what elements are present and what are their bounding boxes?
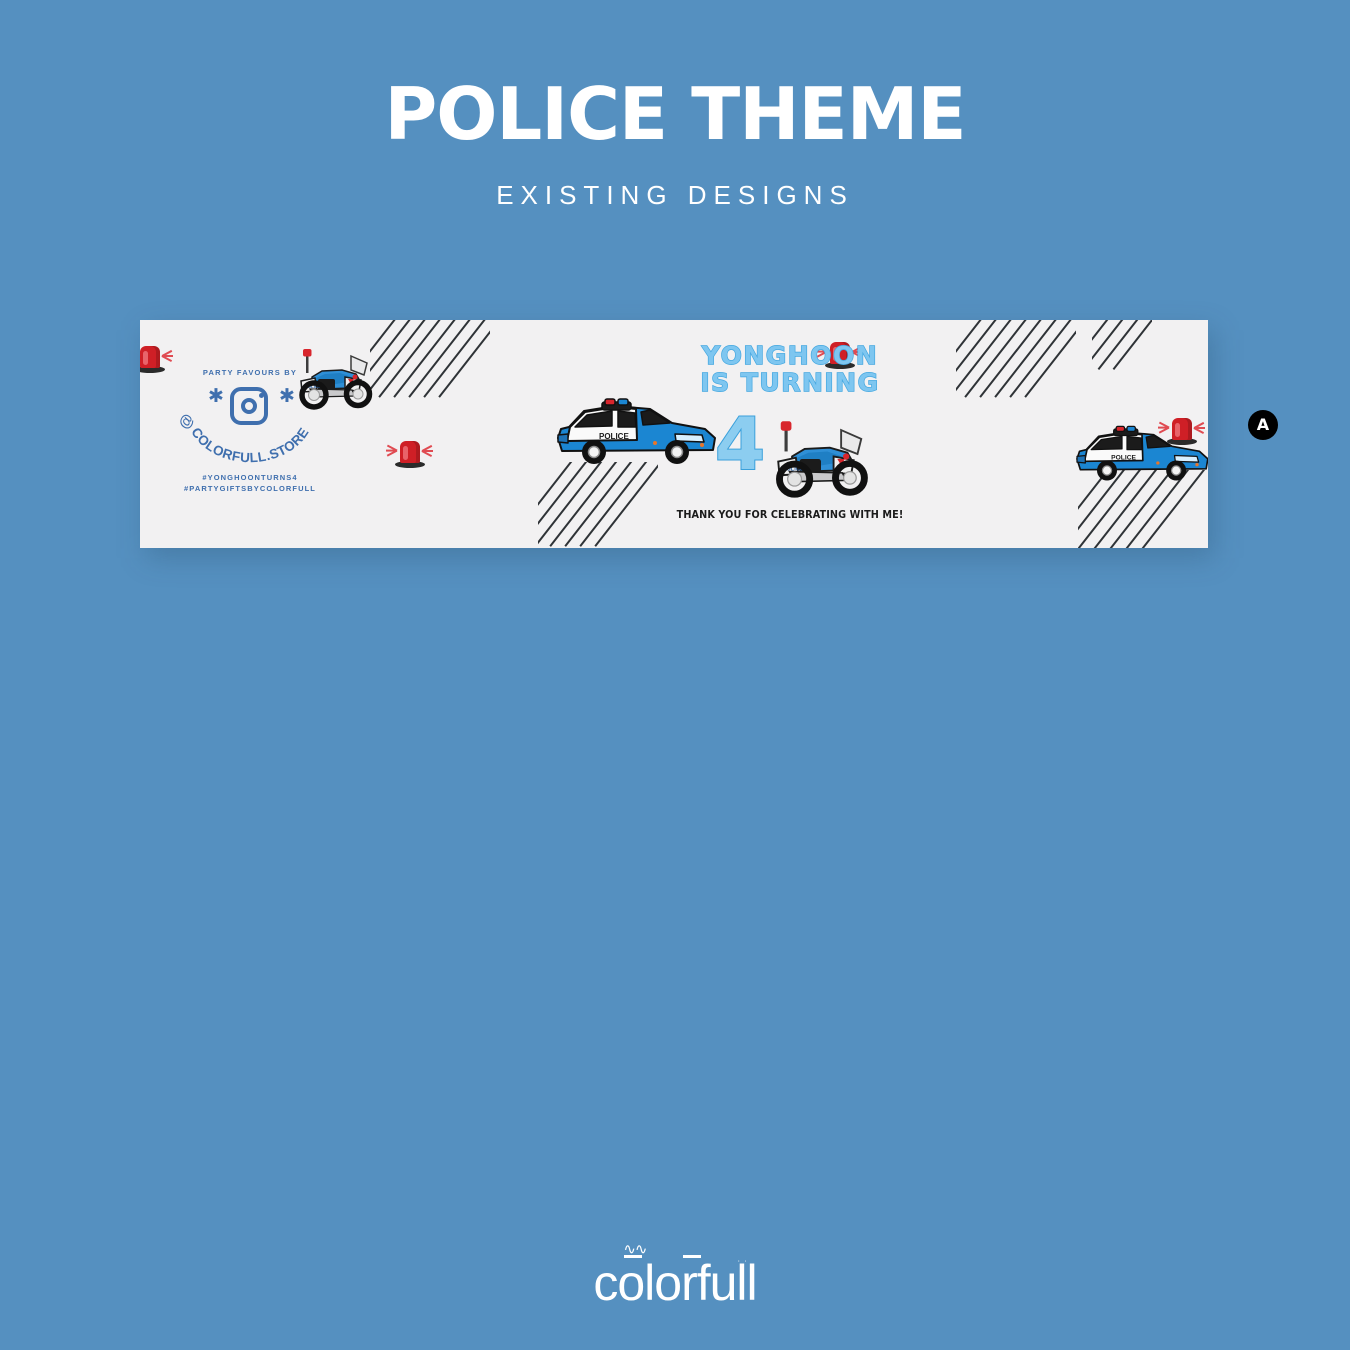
age-number: 4: [715, 408, 765, 480]
svg-text:COLORFULL.STORE: COLORFULL.STORE: [188, 425, 312, 466]
name-line-1: YONGHOON: [660, 342, 920, 369]
footer: ∿∿ ·· colorfull: [0, 1258, 1350, 1308]
hashtag: #PARTYGIFTSBYCOLORFULL: [170, 484, 330, 495]
police-car: POLICE: [1072, 420, 1208, 486]
svg-text:POLICE: POLICE: [599, 432, 629, 441]
thank-you-text: THANK YOU FOR CELEBRATING WITH ME!: [605, 508, 975, 521]
banner-preview[interactable]: PARTY FAVOURS BY COLORFULL.STORE @ ✱ ✱: [140, 320, 1208, 548]
hashtag-list: #YONGHOONTURNS4 #PARTYGIFTSBYCOLORFULL: [170, 473, 330, 495]
police-motorcycle: POLICE: [766, 420, 876, 498]
sparkle-icon: ✱: [208, 387, 224, 406]
instagram-dot-icon: [259, 393, 264, 398]
variant-marker-a[interactable]: A: [1248, 410, 1278, 440]
stripe-group: [370, 320, 490, 406]
page-subtitle: EXISTING DESIGNS: [0, 180, 1350, 211]
siren-light: [140, 340, 172, 380]
hashtag: #YONGHOONTURNS4: [170, 473, 330, 484]
police-car: POLICE: [552, 392, 720, 470]
police-motorcycle: POLICE: [292, 348, 378, 410]
header: POLICE THEME EXISTING DESIGNS: [0, 78, 1350, 211]
stripe-group: [1092, 320, 1152, 380]
svg-text:POLICE: POLICE: [1111, 455, 1136, 462]
diaeresis-diacritic-icon: ··: [736, 1254, 750, 1269]
birthday-name-block: YONGHOON IS TURNING: [660, 342, 920, 396]
variant-marker-label: A: [1257, 417, 1269, 433]
name-line-2: IS TURNING: [660, 369, 920, 396]
page-background: POLICE THEME EXISTING DESIGNS: [0, 0, 1350, 1350]
macron-diacritic-icon: [683, 1255, 701, 1258]
colorfull-logo: ∿∿ ·· colorfull: [593, 1258, 756, 1308]
stripe-group: [538, 462, 658, 548]
page-title: POLICE THEME: [0, 78, 1350, 150]
colorfull-logo-text: colorfull: [593, 1255, 756, 1311]
stripe-group: [956, 320, 1076, 406]
macron-diacritic-icon: [624, 1255, 642, 1258]
siren-light: [388, 435, 432, 475]
instagram-lens-icon: [241, 398, 257, 414]
banner-artboard: PARTY FAVOURS BY COLORFULL.STORE @ ✱ ✱: [140, 320, 1208, 548]
